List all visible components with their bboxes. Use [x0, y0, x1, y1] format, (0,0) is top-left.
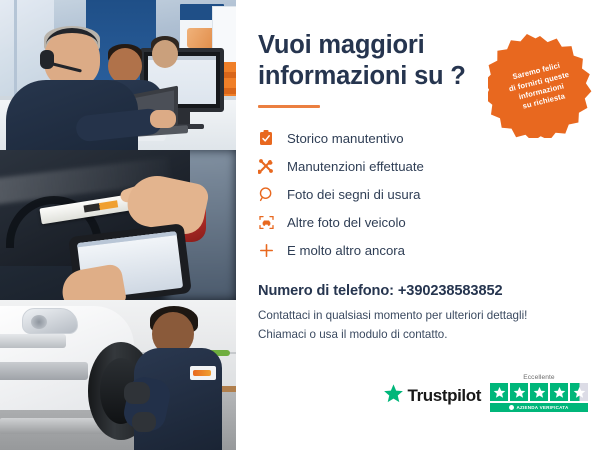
- phone-number[interactable]: Numero di telefono: +390238583852: [258, 283, 578, 299]
- verified-badge: AZIENDA VERIFICATA: [490, 403, 588, 412]
- trustpilot-rating: Eccellente AZIENDA VERIFICATA: [490, 374, 588, 412]
- feature-label: Altre foto del veicolo: [287, 215, 406, 230]
- trustpilot-widget[interactable]: Trustpilot Eccellente AZIENDA VERIFICATA: [383, 374, 588, 412]
- feature-label: Foto dei segni di usura: [287, 187, 420, 202]
- feature-item-manutenzioni[interactable]: Manutenzioni effettuate: [258, 152, 578, 180]
- workshop-wheel-service-photo: [0, 300, 236, 450]
- vehicle-body-inspection-photo: [0, 150, 236, 300]
- trustpilot-name: Trustpilot: [408, 386, 481, 406]
- content-panel: Vuoi maggiori informazioni su ? Storico …: [236, 0, 600, 450]
- starburst-shape-icon: [488, 34, 592, 138]
- feature-label: E molto altro ancora: [287, 243, 405, 258]
- feature-list: Storico manutentivo Manutenzi: [258, 124, 578, 264]
- rating-label: Eccellente: [523, 374, 554, 381]
- plus-icon: [258, 242, 274, 258]
- star-4-icon: [550, 383, 568, 401]
- feature-label: Storico manutentivo: [287, 131, 404, 146]
- star-2-icon: [510, 383, 528, 401]
- star-1-icon: [490, 383, 508, 401]
- promo-card: Vuoi maggiori informazioni su ? Storico …: [0, 0, 600, 450]
- trustpilot-logo: Trustpilot: [383, 383, 481, 412]
- feature-item-altro-ancora[interactable]: E molto altro ancora: [258, 236, 578, 264]
- camera-frame-icon: [258, 214, 274, 230]
- clipboard-check-icon: [258, 130, 274, 146]
- feature-item-foto-usura[interactable]: Foto dei segni di usura: [258, 180, 578, 208]
- feature-item-altre-foto[interactable]: Altre foto del veicolo: [258, 208, 578, 236]
- trustpilot-star-icon: [383, 383, 404, 409]
- call-center-operators-photo: [0, 0, 236, 150]
- callback-badge[interactable]: Saremo felici di fornirti queste informa…: [488, 34, 592, 138]
- tools-cross-icon: [258, 158, 274, 174]
- contact-line-2: Chiamaci o usa il modulo di contatto.: [258, 326, 578, 344]
- magnifier-icon: [258, 186, 274, 202]
- title-underline: [258, 105, 320, 108]
- page-title: Vuoi maggiori informazioni su ?: [258, 30, 473, 92]
- star-rating: [490, 383, 588, 401]
- star-5-icon: [570, 383, 588, 401]
- check-circle-icon: [509, 405, 514, 410]
- photo-column: [0, 0, 236, 450]
- verified-label: AZIENDA VERIFICATA: [516, 405, 568, 410]
- contact-line-1: Contattaci in qualsiasi momento per ulte…: [258, 307, 578, 325]
- star-3-icon: [530, 383, 548, 401]
- feature-label: Manutenzioni effettuate: [287, 159, 424, 174]
